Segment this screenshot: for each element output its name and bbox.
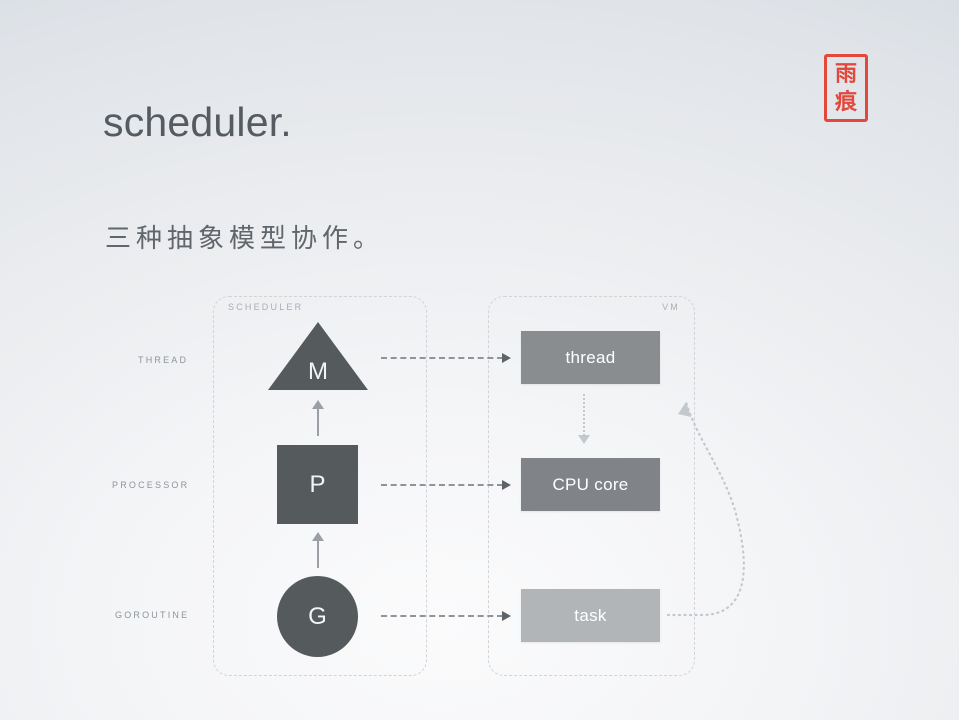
arrow-thread-to-cpu-icon [578, 394, 590, 444]
arrow-shaft [381, 357, 503, 359]
vm-box-cpu-core: CPU core [521, 458, 660, 511]
panel-label-scheduler: SCHEDULER [228, 302, 303, 312]
arrow-shaft [317, 407, 319, 436]
vm-box-task-label: task [574, 606, 606, 626]
arrowhead-right-icon [502, 353, 511, 363]
seal-char-bottom: 痕 [835, 91, 857, 113]
shape-g-label: G [308, 605, 327, 629]
panel-label-vm: VM [662, 302, 680, 312]
page-subtitle: 三种抽象模型协作。 [105, 218, 384, 255]
shape-p-label: P [309, 473, 325, 497]
arrow-m-to-thread-icon [381, 353, 511, 363]
red-seal-stamp-icon: 雨 痕 [824, 54, 868, 122]
shape-p-processor-square: P [277, 445, 358, 524]
arrowhead-right-icon [502, 480, 511, 490]
row-label-processor: PROCESSOR [112, 480, 189, 490]
vm-box-cpu-core-label: CPU core [552, 475, 628, 495]
vm-box-thread-label: thread [565, 348, 615, 368]
shape-m-thread-triangle: M [268, 322, 368, 390]
arrow-g-to-task-icon [381, 611, 511, 621]
row-label-thread: THREAD [138, 355, 188, 365]
shape-m-label: M [308, 360, 328, 384]
arrowhead-right-icon [502, 611, 511, 621]
seal-char-top: 雨 [835, 63, 857, 85]
vm-box-task: task [521, 589, 660, 642]
arrow-g-to-p-icon [311, 532, 325, 568]
arrow-shaft [381, 484, 503, 486]
page-title: scheduler. [103, 99, 292, 146]
presentation-slide: scheduler. 三种抽象模型协作。 雨 痕 THREAD PROCESSO… [0, 0, 959, 720]
arrow-shaft [381, 615, 503, 617]
arrow-p-to-cpu-icon [381, 480, 511, 490]
arrowhead-down-icon [578, 435, 590, 444]
shape-g-goroutine-circle: G [277, 576, 358, 657]
vm-box-thread: thread [521, 331, 660, 384]
arrow-shaft [317, 539, 319, 568]
arrow-p-to-m-icon [311, 400, 325, 436]
arrow-shaft [583, 394, 585, 436]
row-label-goroutine: GOROUTINE [115, 610, 189, 620]
